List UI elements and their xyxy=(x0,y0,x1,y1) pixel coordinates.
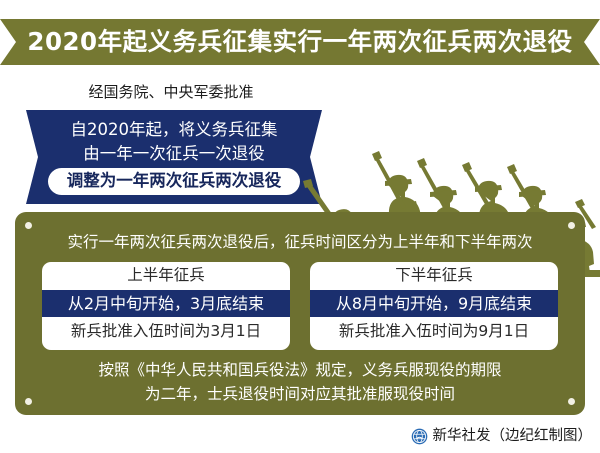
legal-note-line-1: 按照《中华人民共和国兵役法》规定，义务兵服现役的期限 xyxy=(15,358,585,382)
schedule-card-period: 从2月中旬开始，3月底结束 xyxy=(42,290,290,317)
schedule-card-title: 下半年征兵 xyxy=(310,262,558,290)
approval-statement: 经国务院、中央军委批准 xyxy=(46,85,296,100)
panel-intro-text: 实行一年两次征兵两次退役后，征兵时间区分为上半年和下半年两次 xyxy=(15,235,585,251)
policy-highlight-pill: 调整为一年两次征兵两次退役 xyxy=(48,168,300,195)
policy-callout: 自2020年起，将义务兵征集 由一年一次征兵一次退役 调整为一年两次征兵两次退役 xyxy=(26,110,322,204)
schedule-card-title: 上半年征兵 xyxy=(42,262,290,290)
title-banner: 2020年起义务兵征集实行一年两次征兵两次退役 xyxy=(0,19,600,65)
schedule-card-list: 上半年征兵 从2月中旬开始，3月底结束 新兵批准入伍时间为3月1日 下半年征兵 … xyxy=(42,262,558,350)
intro-section: 经国务院、中央军委批准 自2020年起，将义务兵征集 由一年一次征兵一次退役 调… xyxy=(0,65,600,212)
legal-note: 按照《中华人民共和国兵役法》规定，义务兵服现役的期限 为二年，士兵退役时间对应其… xyxy=(15,358,585,406)
schedule-card-period: 从8月中旬开始，9月底结束 xyxy=(310,290,558,317)
schedule-card-first-half: 上半年征兵 从2月中旬开始，3月底结束 新兵批准入伍时间为3月1日 xyxy=(42,262,290,350)
schedule-card-enlist-date: 新兵批准入伍时间为9月1日 xyxy=(310,317,558,347)
credit-text: 新华社发（边纪红制图） xyxy=(433,429,593,444)
policy-highlight-text: 调整为一年两次征兵两次退役 xyxy=(67,173,282,190)
policy-callout-line-2: 由一年一次征兵一次退役 xyxy=(26,146,322,163)
recruitment-schedule-panel: 实行一年两次征兵两次退役后，征兵时间区分为上半年和下半年两次 上半年征兵 从2月… xyxy=(15,212,585,415)
schedule-card-second-half: 下半年征兵 从8月中旬开始，9月底结束 新兵批准入伍时间为9月1日 xyxy=(310,262,558,350)
xinhua-globe-icon xyxy=(411,428,428,445)
credit-line: 新华社发（边纪红制图） xyxy=(411,428,593,445)
rivet-top-left-icon xyxy=(25,222,32,229)
page-title: 2020年起义务兵征集实行一年两次征兵两次退役 xyxy=(27,30,572,55)
rivet-top-right-icon xyxy=(568,222,575,229)
policy-callout-line-1: 自2020年起，将义务兵征集 xyxy=(26,122,322,139)
legal-note-line-2: 为二年，士兵退役时间对应其批准服现役时间 xyxy=(15,382,585,406)
schedule-card-enlist-date: 新兵批准入伍时间为3月1日 xyxy=(42,317,290,347)
